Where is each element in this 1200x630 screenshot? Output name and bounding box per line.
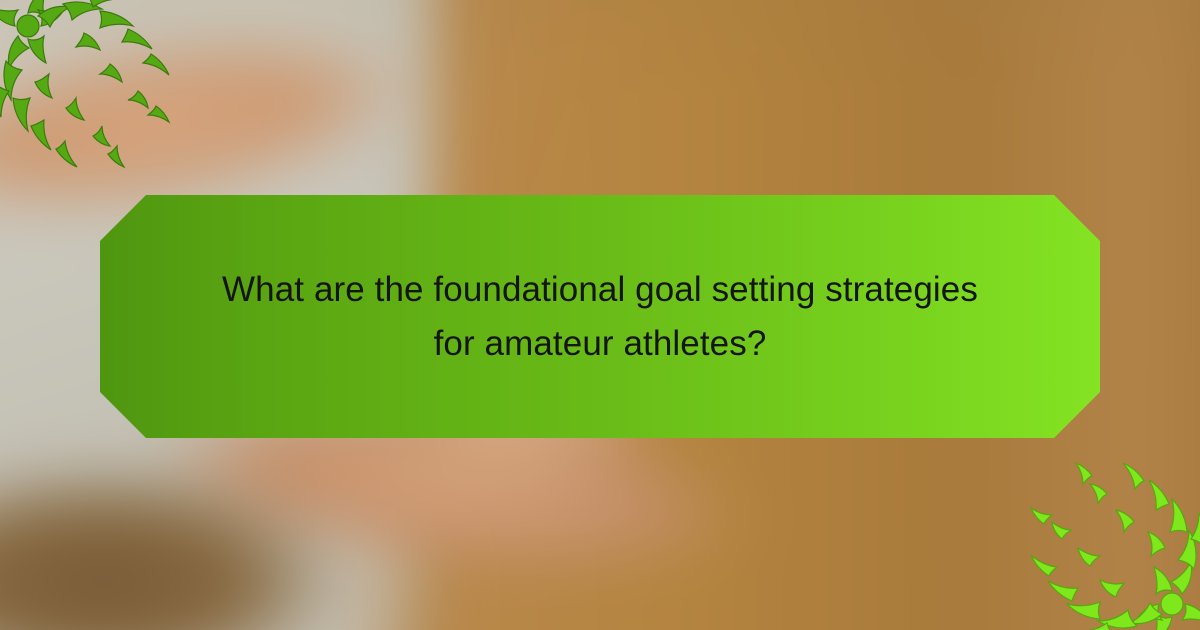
poster-canvas: What are the foundational goal setting s… [0,0,1200,630]
question-card: What are the foundational goal setting s… [100,195,1100,438]
question-title: What are the foundational goal setting s… [124,263,1076,369]
